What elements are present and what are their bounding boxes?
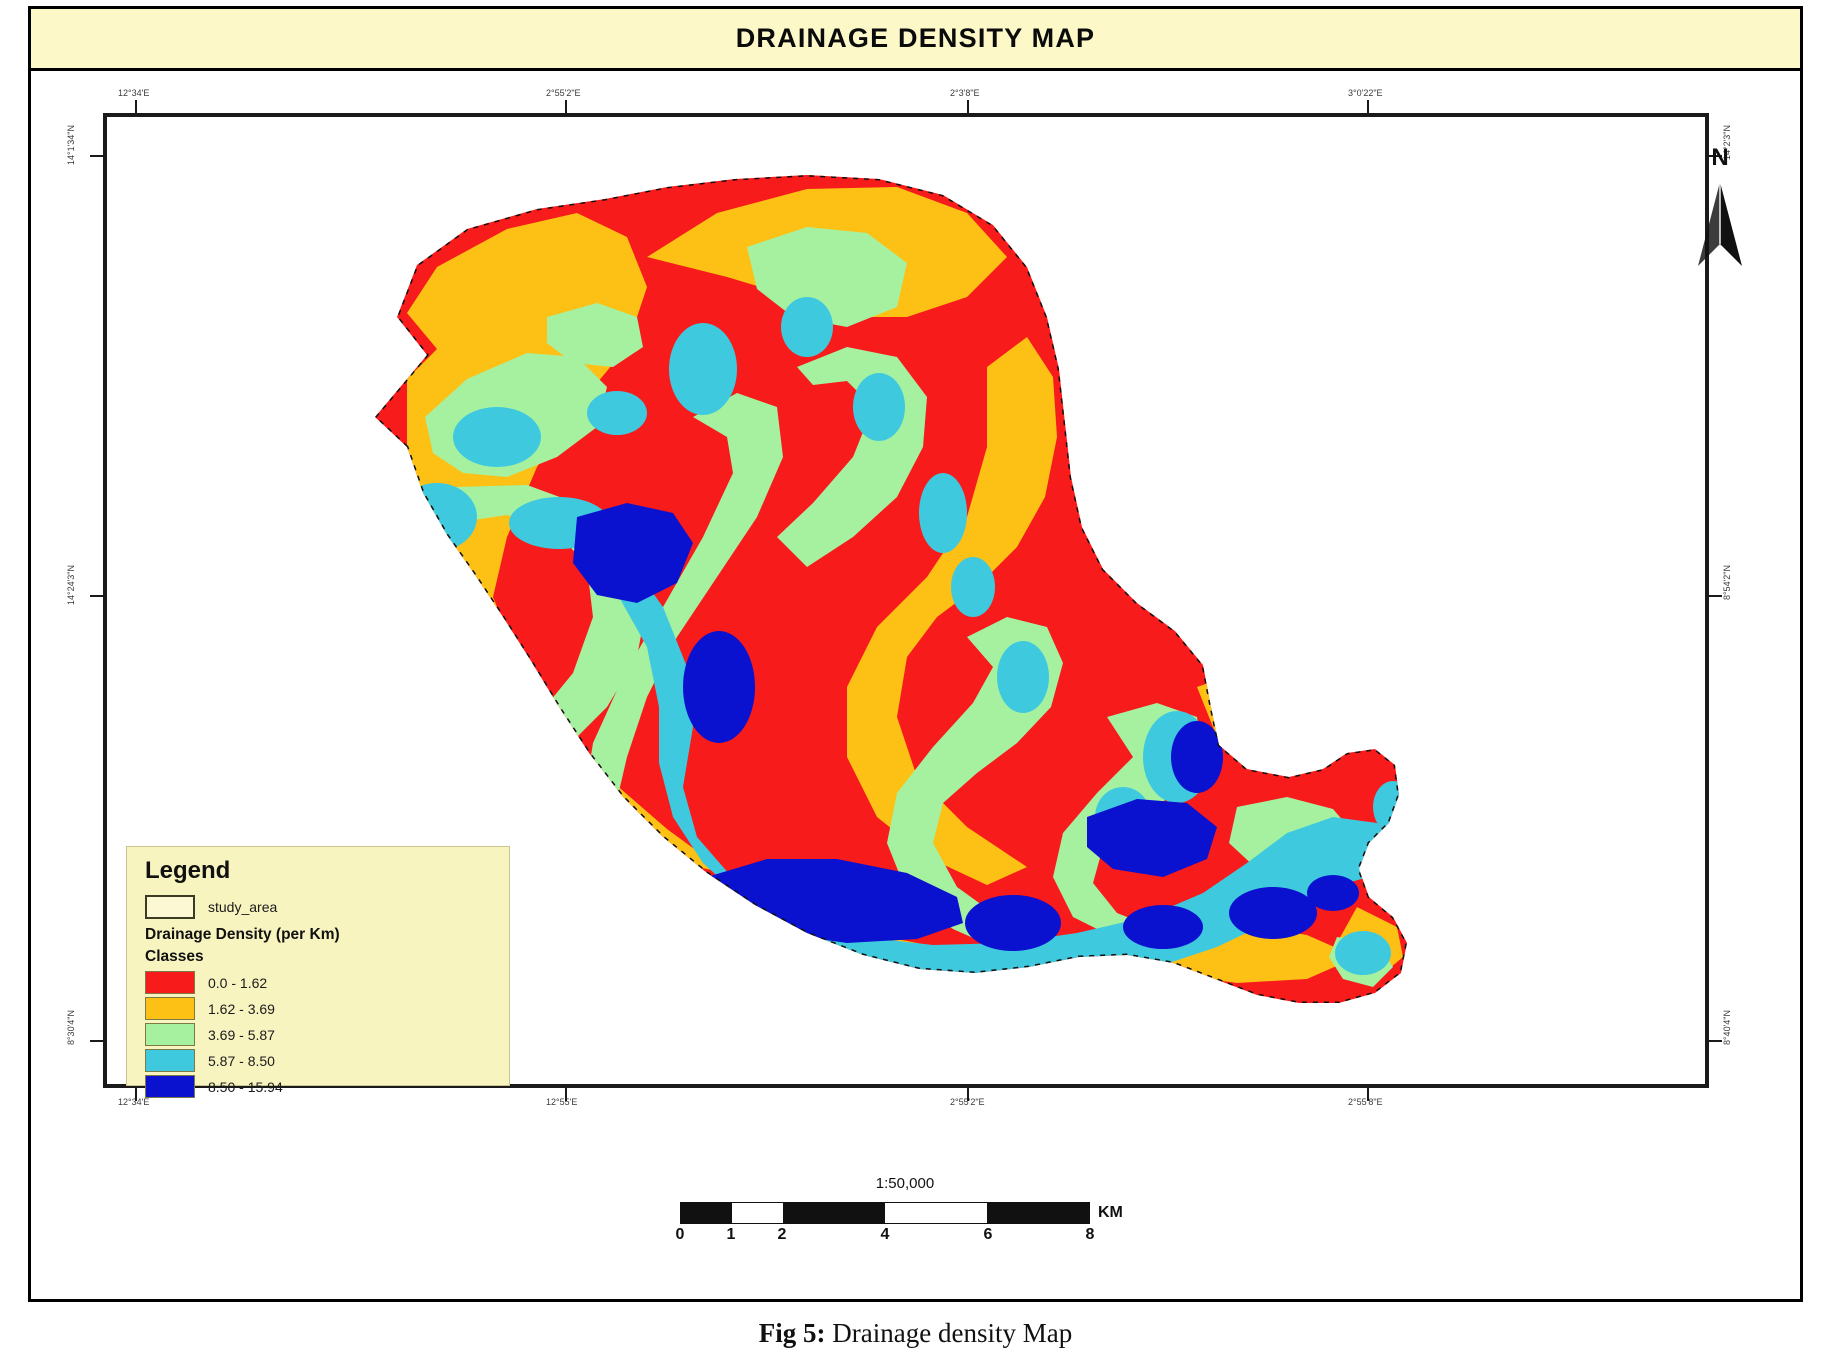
graticule-label-right-3: 8°40'4"N [1722,1010,1732,1045]
north-arrow-label: N [1690,144,1750,172]
scale-tick-0: 0 [676,1226,685,1244]
graticule-tick-top-2 [565,100,567,113]
graticule-tick-bottom-3 [967,1088,969,1101]
figure-caption-text: Drainage density Map [826,1318,1073,1348]
legend-classes-heading: Classes [145,948,509,966]
scale-tick-labels: KM 0 1 2 4 6 8 [680,1226,1150,1250]
graticule-tick-right-3 [1709,1040,1722,1042]
graticule-tick-bottom-2 [565,1088,567,1101]
graticule-label-left-1: 14°1'34"N [66,125,76,165]
scale-segment-1 [681,1203,732,1223]
study-area-label: study_area [208,899,277,915]
class-label-5: 8.50 - 15.94 [208,1079,283,1095]
graticule-label-top-1: 12°34'E [118,88,149,98]
graticule-label-left-3: 8°30'4"N [66,1010,76,1045]
class-label-3: 3.69 - 5.87 [208,1027,275,1043]
page-title: DRAINAGE DENSITY MAP [736,23,1096,54]
graticule-label-bottom-2: 12°55'E [546,1097,577,1107]
graticule-tick-left-3 [90,1040,103,1042]
scale-tick-8: 8 [1086,1226,1095,1244]
class-label-1: 0.0 - 1.62 [208,975,267,991]
scale-segment-4 [885,1203,987,1223]
graticule-tick-left-1 [90,155,103,157]
graticule-label-bottom-1: 12°34'E [118,1097,149,1107]
legend-item-study-area[interactable]: study_area [145,895,509,919]
graticule-tick-bottom-1 [135,1088,137,1101]
graticule-tick-top-3 [967,100,969,113]
graticule-label-bottom-4: 2°55'8"E [1348,1097,1383,1107]
class-label-4: 5.87 - 8.50 [208,1053,275,1069]
graticule-tick-top-4 [1367,100,1369,113]
study-area-swatch [145,895,195,919]
class-swatch-4 [145,1049,195,1072]
class-swatch-5 [145,1075,195,1098]
class-label-2: 1.62 - 3.69 [208,1001,275,1017]
legend-panel[interactable]: Legend study_area Drainage Density (per … [126,846,510,1086]
graticule-tick-right-2 [1709,595,1722,597]
graticule-label-top-4: 3°0'22"E [1348,88,1383,98]
legend-subheading: Drainage Density (per Km) [145,926,509,944]
scale-unit-label: KM [1098,1204,1123,1222]
graticule-label-right-2: 8°54'2"N [1722,565,1732,600]
legend-class-row-5[interactable]: 8.50 - 15.94 [145,1075,509,1098]
scale-ratio-label: 1:50,000 [745,1175,1065,1192]
scale-tick-2: 2 [778,1226,787,1244]
scale-bar-group: 1:50,000 KM 0 1 2 4 6 8 [655,1175,1155,1250]
legend-class-row-4[interactable]: 5.87 - 8.50 [145,1049,509,1072]
legend-class-row-2[interactable]: 1.62 - 3.69 [145,997,509,1020]
figure-caption: Fig 5: Drainage density Map [0,1318,1831,1349]
scale-bar [680,1202,1090,1224]
graticule-tick-left-2 [90,595,103,597]
page-root: DRAINAGE DENSITY MAP 12°34'E 2°55'2"E 2°… [0,0,1831,1356]
scale-segment-5 [987,1203,1089,1223]
class-swatch-1 [145,971,195,994]
north-arrow-icon [1696,178,1744,270]
scale-segment-3 [783,1203,885,1223]
north-arrow: N [1690,144,1750,274]
title-banner: DRAINAGE DENSITY MAP [31,9,1800,71]
scale-tick-4: 4 [881,1226,890,1244]
legend-heading: Legend [145,857,509,885]
scale-tick-1: 1 [727,1226,736,1244]
graticule-tick-bottom-4 [1367,1088,1369,1101]
graticule-tick-top-1 [135,100,137,113]
scale-segment-2 [732,1203,783,1223]
legend-class-row-1[interactable]: 0.0 - 1.62 [145,971,509,994]
class-swatch-3 [145,1023,195,1046]
scale-tick-6: 6 [984,1226,993,1244]
graticule-label-left-2: 14°24'3"N [66,565,76,605]
legend-class-row-3[interactable]: 3.69 - 5.87 [145,1023,509,1046]
graticule-label-top-3: 2°3'8"E [950,88,980,98]
class-swatch-2 [145,997,195,1020]
figure-caption-number: Fig 5: [759,1318,826,1348]
graticule-label-top-2: 2°55'2"E [546,88,581,98]
